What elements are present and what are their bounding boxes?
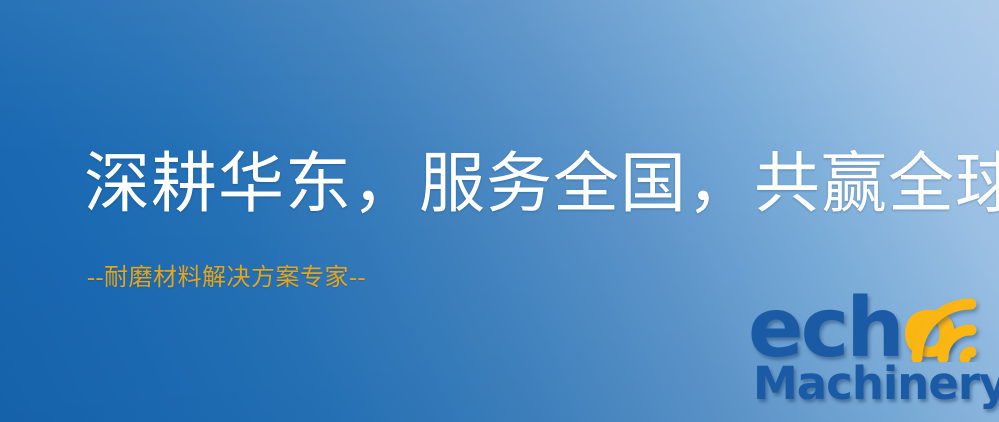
banner-subline: --耐磨材料解决方案专家-- bbox=[87, 266, 366, 290]
logo-tagline-text: Machinery bbox=[753, 357, 999, 410]
banner-headline: 深耕华东，服务全国，共赢全球 bbox=[84, 152, 999, 218]
logo-tagline: Machinery® bbox=[753, 361, 999, 406]
hero-banner: 深耕华东，服务全国，共赢全球 --耐磨材料解决方案专家-- echo Machi… bbox=[0, 0, 999, 422]
signal-waves-icon bbox=[903, 290, 993, 362]
echo-machinery-logo[interactable]: echo Machinery® bbox=[748, 288, 999, 422]
